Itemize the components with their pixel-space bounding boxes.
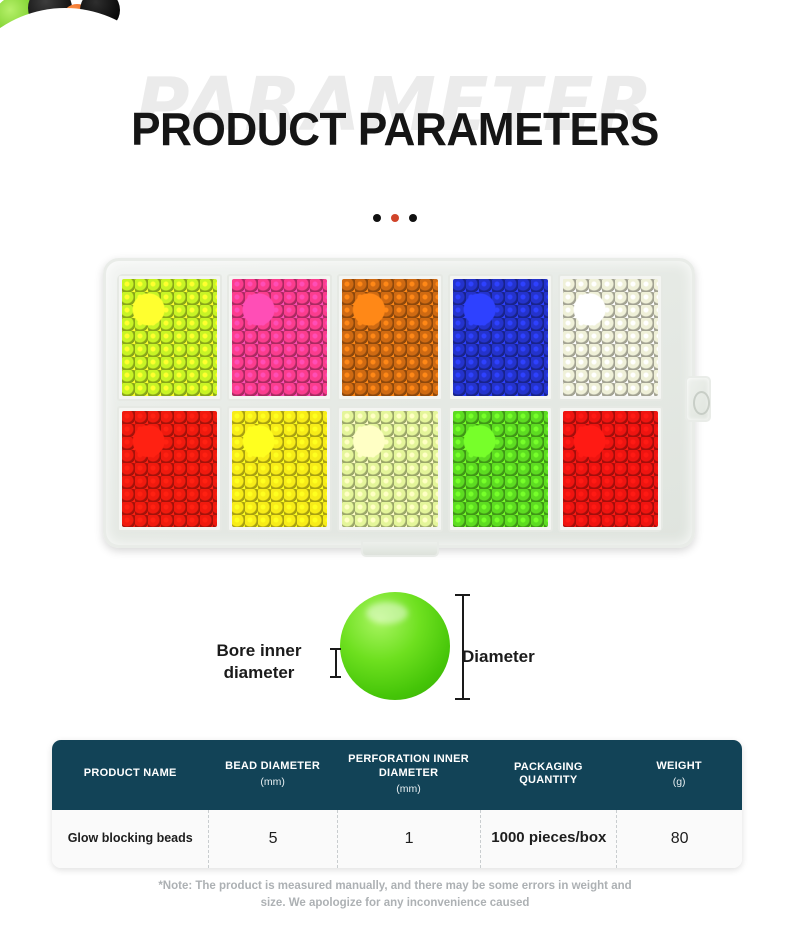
separator-dot-1 bbox=[373, 214, 381, 222]
table-row: Glow blocking beads511000 pieces/box80 bbox=[52, 810, 742, 868]
cell-weight: 80 bbox=[616, 810, 742, 868]
table-header-cell: PACKAGING QUANTITY bbox=[480, 740, 616, 810]
table-header-cell: WEIGHT(g) bbox=[616, 740, 742, 810]
cell-product-name: Glow blocking beads bbox=[52, 810, 208, 868]
bead-cluster bbox=[453, 279, 548, 396]
header-title: BEAD DIAMETER bbox=[225, 760, 320, 774]
bead-compartment bbox=[227, 406, 332, 533]
specification-table: PRODUCT NAMEBEAD DIAMETER(mm)PERFORATION… bbox=[52, 740, 742, 868]
bead-cluster bbox=[342, 411, 437, 528]
header-title: PRODUCT NAME bbox=[84, 767, 177, 781]
title-block: PARAMETER PRODUCT PARAMETERS bbox=[0, 58, 790, 188]
table-header-row: PRODUCT NAMEBEAD DIAMETER(mm)PERFORATION… bbox=[52, 740, 742, 810]
table-body: Glow blocking beads511000 pieces/box80 bbox=[52, 810, 742, 868]
page-title: PRODUCT PARAMETERS bbox=[16, 102, 774, 156]
product-parameters-page: PARAMETER PRODUCT PARAMETERS Bore inner … bbox=[0, 0, 790, 935]
header-unit: (mm) bbox=[396, 783, 421, 796]
bead-compartment bbox=[558, 274, 663, 401]
bead-compartment bbox=[337, 274, 442, 401]
bore-label-line-1: Bore inner bbox=[190, 640, 328, 662]
bead-cluster bbox=[563, 411, 658, 528]
table-header-cell: BEAD DIAMETER(mm) bbox=[208, 740, 336, 810]
header-title: PERFORATION INNER DIAMETER bbox=[341, 753, 477, 781]
cell-bead-diameter: 5 bbox=[208, 810, 336, 868]
table-header-cell: PRODUCT NAME bbox=[52, 740, 208, 810]
separator-dot-3 bbox=[409, 214, 417, 222]
bead-cluster bbox=[232, 279, 327, 396]
bead-cluster bbox=[563, 279, 658, 396]
bead-cluster bbox=[122, 411, 217, 528]
bead-cluster bbox=[453, 411, 548, 528]
bead-compartment bbox=[448, 274, 553, 401]
header-title: PACKAGING QUANTITY bbox=[484, 761, 612, 789]
bead-cluster bbox=[232, 411, 327, 528]
bore-caliper-mark-icon bbox=[330, 648, 341, 678]
bead-highlight bbox=[366, 602, 408, 624]
bead-compartment bbox=[558, 406, 663, 533]
bead-compartment bbox=[337, 406, 442, 533]
cell-packaging-quantity: 1000 pieces/box bbox=[480, 810, 616, 868]
separator-dot-accent bbox=[391, 214, 399, 222]
header-unit: (mm) bbox=[260, 776, 285, 789]
bead-compartment bbox=[227, 274, 332, 401]
bead-compartment bbox=[117, 406, 222, 533]
box-latch bbox=[685, 376, 711, 422]
bead-box-photo bbox=[103, 258, 695, 548]
diameter-label: Diameter bbox=[462, 647, 535, 667]
bead-cluster bbox=[122, 279, 217, 396]
cell-perforation-inner-diameter: 1 bbox=[337, 810, 481, 868]
footnote-text: *Note: The product is measured manually,… bbox=[0, 878, 790, 913]
header-title: WEIGHT bbox=[656, 760, 702, 774]
dot-separator bbox=[0, 214, 790, 222]
bead-compartment bbox=[448, 406, 553, 533]
bead-cluster bbox=[342, 279, 437, 396]
bead-compartment bbox=[117, 274, 222, 401]
box-compartment-grid bbox=[117, 274, 663, 532]
header-unit: (g) bbox=[673, 776, 686, 789]
bore-label-line-2: diameter bbox=[190, 662, 328, 684]
box-clasp bbox=[361, 540, 439, 557]
bore-diameter-label: Bore inner diameter bbox=[190, 640, 328, 684]
table-header-cell: PERFORATION INNER DIAMETER(mm) bbox=[337, 740, 481, 810]
